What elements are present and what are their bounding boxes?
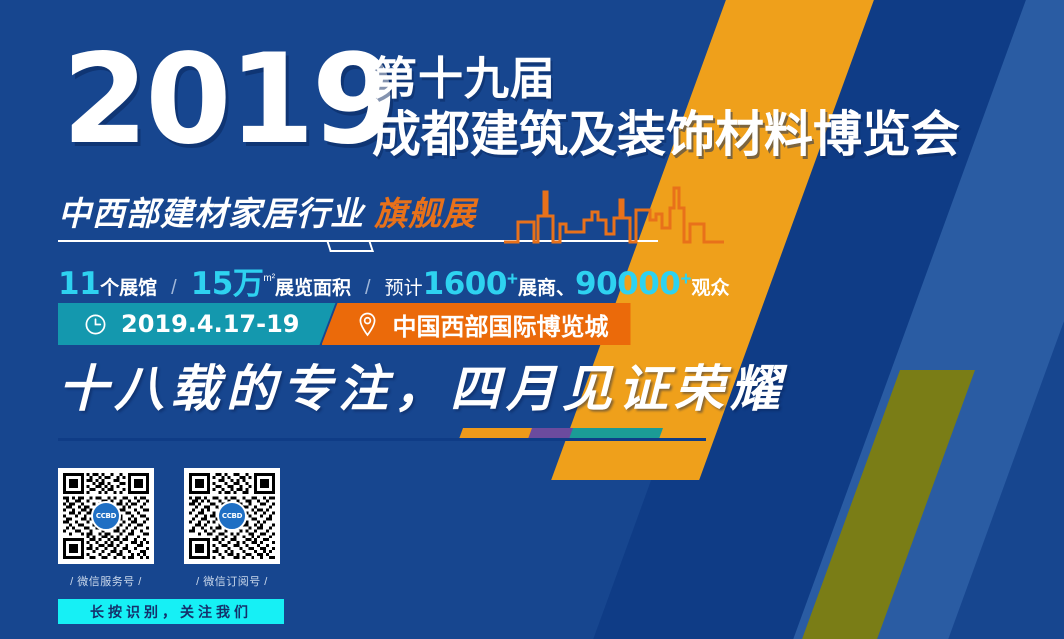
qr-labels: / 微信服务号 / / 微信订阅号 / <box>58 573 298 589</box>
subtitle-main: 中西部建材家居行业 <box>58 195 364 232</box>
stat-area-sq-unit: m² <box>263 273 275 284</box>
city-skyline-icon <box>504 184 724 246</box>
stat-area-unit: 展览面积 <box>275 273 351 300</box>
stat-halls-unit: 个展馆 <box>100 273 157 300</box>
stats-line: 11个展馆 / 15万m²展览面积 / 预计1600+展商、90000+观众 <box>58 258 730 294</box>
qr-label-subscription-account: / 微信订阅号 / <box>184 573 280 589</box>
venue-badge[interactable]: 中国西部国际博览城 <box>322 303 631 345</box>
subtitle-notch <box>326 240 374 252</box>
date-badge[interactable]: 2019.4.17-19 <box>58 303 336 345</box>
subtitle-accent: 旗舰展 <box>374 195 476 232</box>
stat-halls-number: 11 <box>58 266 100 302</box>
slogan-text: 十八载的专注，四月见证荣耀 <box>58 358 786 420</box>
subtitle-text: 中西部建材家居行业 旗舰展 <box>58 192 476 236</box>
stat-exhibitor-number: 1600 <box>423 266 507 302</box>
qr-label-service-account: / 微信服务号 / <box>58 573 154 589</box>
qr-center-logo: CCBD <box>217 501 247 531</box>
qr-cta-banner[interactable]: 长按识别，关注我们 <box>58 599 284 624</box>
year-number: 2019 <box>62 38 395 162</box>
qr-code-subscription-account[interactable]: CCBD <box>184 468 280 564</box>
stat-area-number: 15万 <box>191 258 264 303</box>
location-pin-icon <box>356 312 379 337</box>
stat-separator-1: / <box>157 277 191 300</box>
subtitle-block: 中西部建材家居行业 旗舰展 <box>58 192 708 250</box>
headline-line-2: 成都建筑及装饰材料博览会 <box>372 106 960 164</box>
divider-baseline <box>58 438 706 441</box>
date-badge-text: 2019.4.17-19 <box>121 310 300 338</box>
stat-visitor-unit: 观众 <box>692 273 730 300</box>
clock-icon <box>84 313 107 336</box>
poster-root: 2019 第十九届 成都建筑及装饰材料博览会 中西部建材家居行业 旗舰展 11个… <box>0 0 1064 639</box>
stat-visitor-plus: + <box>680 269 691 291</box>
stat-visitor-number: 90000 <box>575 266 680 302</box>
qr-code-service-account[interactable]: CCBD <box>58 468 154 564</box>
stat-exhibitor-unit: 展商、 <box>518 273 575 300</box>
qr-section: CCBD <box>58 468 298 624</box>
info-badges: 2019.4.17-19 中国西部国际博览城 <box>58 303 631 345</box>
stat-separator-2: / <box>351 277 385 300</box>
headline: 第十九届 成都建筑及装饰材料博览会 <box>372 52 960 164</box>
stat-exhibitor-prefix: 预计 <box>385 273 423 300</box>
headline-line-1: 第十九届 <box>372 52 960 106</box>
stat-exhibitor-plus: + <box>507 269 518 291</box>
qr-row: CCBD <box>58 468 298 564</box>
qr-center-logo: CCBD <box>91 501 121 531</box>
venue-badge-text: 中国西部国际博览城 <box>393 307 609 342</box>
